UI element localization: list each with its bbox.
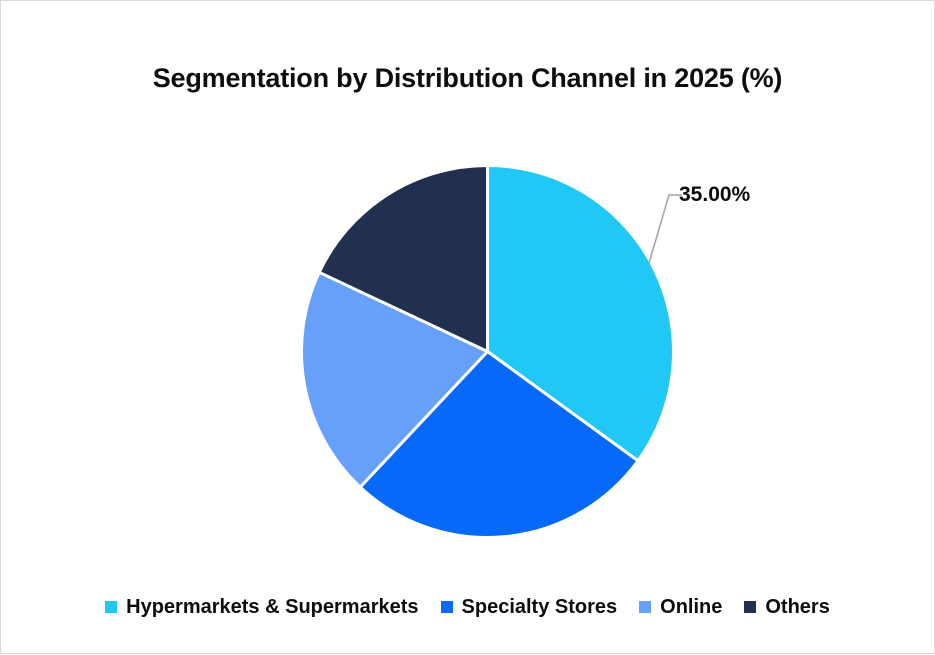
legend-swatch-icon <box>744 601 756 613</box>
legend-swatch-icon <box>105 601 117 613</box>
pie-chart-card: Segmentation by Distribution Channel in … <box>0 0 935 654</box>
data-label-hypermarkets-supermarkets: 35.00% <box>679 183 750 207</box>
legend-item-hypermarkets-supermarkets[interactable]: Hypermarkets & Supermarkets <box>105 597 418 617</box>
legend-item-online[interactable]: Online <box>639 597 722 617</box>
legend-item-label: Online <box>660 597 722 617</box>
legend-item-label: Hypermarkets & Supermarkets <box>126 597 418 617</box>
legend-item-label: Others <box>765 597 829 617</box>
pie-chart-svg <box>1 1 935 655</box>
legend-item-specialty-stores[interactable]: Specialty Stores <box>441 597 618 617</box>
legend-swatch-icon <box>441 601 453 613</box>
legend-swatch-icon <box>639 601 651 613</box>
legend-item-others[interactable]: Others <box>744 597 829 617</box>
data-label-leader-line <box>649 195 682 263</box>
pie-slices-group <box>301 166 673 538</box>
legend-item-label: Specialty Stores <box>462 597 618 617</box>
chart-legend: Hypermarkets & Supermarkets Specialty St… <box>1 597 934 617</box>
pie-chart-plot-area: 35.00% <box>1 1 935 655</box>
